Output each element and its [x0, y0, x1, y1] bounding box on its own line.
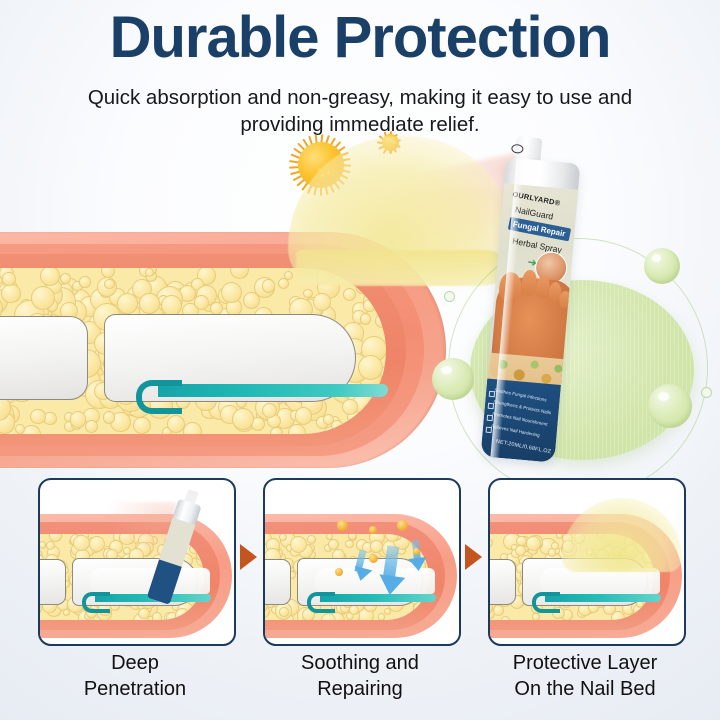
step-panel-1 — [38, 478, 236, 646]
active-ingredient-droplet — [335, 568, 343, 576]
page-title: Durable Protection — [0, 6, 720, 70]
active-ingredient-droplet — [337, 520, 348, 531]
step-caption-3: Protective Layer On the Nail Bed — [478, 650, 692, 702]
green-droplet — [644, 248, 680, 284]
net-contents: NET:20ML/0.68FL.OZ — [495, 439, 551, 456]
green-droplet — [648, 384, 692, 428]
bottle-body: OURLYARD® NailGuard Fungal Repair Herbal… — [480, 157, 580, 462]
step-arrow-icon — [240, 544, 257, 570]
protective-dome — [562, 498, 682, 572]
step-arrow-icon — [465, 544, 482, 570]
step-caption-1: Deep Penetration — [28, 650, 242, 702]
active-ingredient-droplet — [369, 526, 377, 534]
active-ingredient-droplet — [397, 520, 408, 531]
active-ingredient-droplet — [413, 548, 420, 555]
active-ingredient-droplet — [369, 554, 378, 563]
step-panel-2 — [263, 478, 461, 646]
bone-middle-phalanx — [0, 316, 88, 400]
step-caption-2: Soothing and Repairing — [253, 650, 467, 702]
steps-section: Deep Penetration Soothing and Repairing … — [0, 478, 720, 720]
promo-image: Durable Protection Quick absorption and … — [0, 0, 720, 720]
nail-plate — [136, 380, 386, 402]
hero-illustration: OURLYARD® NailGuard Fungal Repair Herbal… — [0, 128, 720, 478]
step-panel-3 — [488, 478, 686, 646]
